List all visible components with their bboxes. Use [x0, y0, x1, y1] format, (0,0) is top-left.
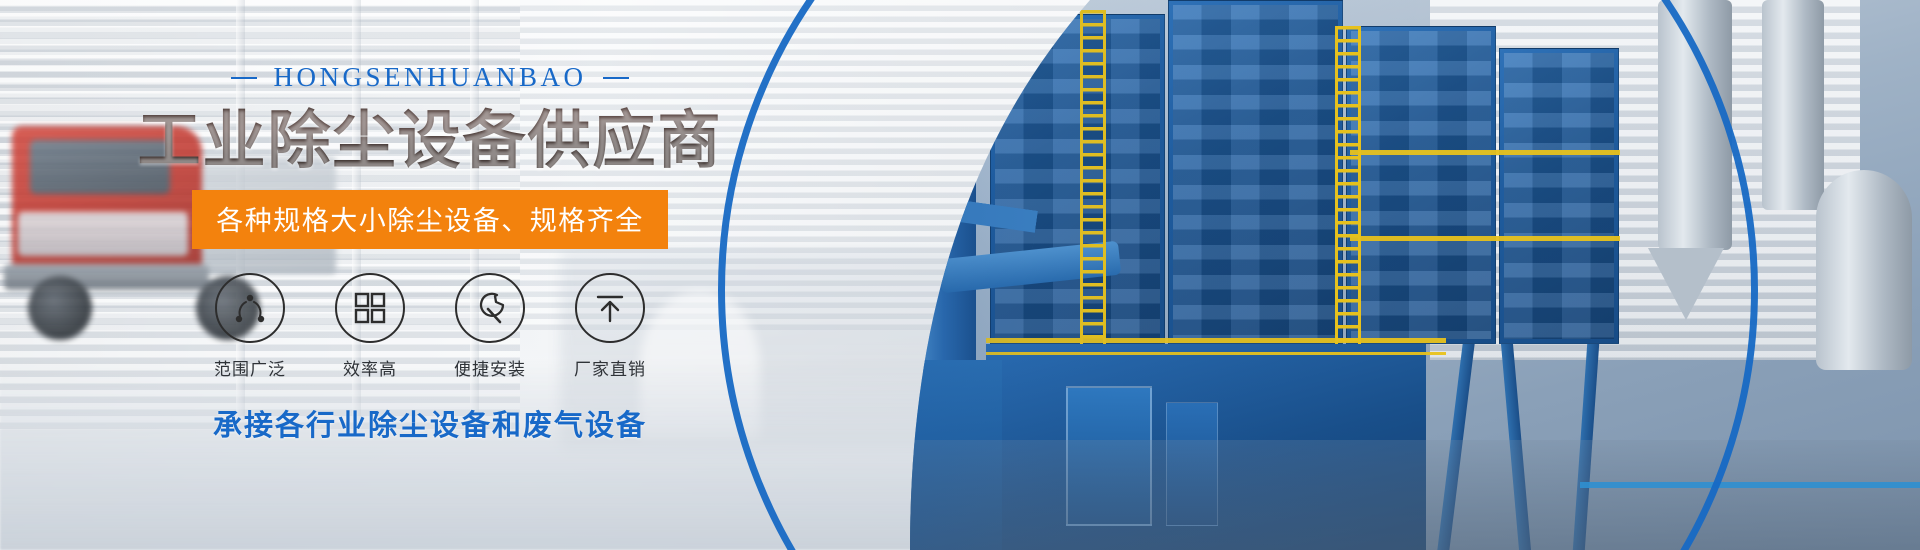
subtitle-orange-bar: 各种规格大小除尘设备、规格齐全 [192, 190, 668, 249]
banner-content: HONGSENHUANBAO 工业除尘设备供应商 各种规格大小除尘设备、规格齐全… [0, 0, 860, 550]
feature-item-high-efficiency[interactable]: 效率高 [329, 273, 411, 380]
feature-label: 便捷安装 [454, 355, 526, 380]
page-title: 工业除尘设备供应商 [138, 107, 723, 175]
feature-item-factory-direct[interactable]: 厂家直销 [569, 273, 651, 380]
feature-label: 范围广泛 [214, 355, 286, 380]
hero-banner: HONGSENHUANBAO 工业除尘设备供应商 各种规格大小除尘设备、规格齐全… [0, 0, 1920, 550]
grid-squares-icon [335, 273, 405, 343]
feature-label: 厂家直销 [574, 355, 646, 380]
upload-arrow-icon [575, 273, 645, 343]
dash-left-icon [231, 77, 257, 79]
feature-list: 范围广泛 效率高 [209, 273, 651, 380]
share-network-icon [215, 273, 285, 343]
dash-right-icon [603, 77, 629, 79]
feature-item-wide-range[interactable]: 范围广泛 [209, 273, 291, 380]
tagline: 承接各行业除尘设备和废气设备 [213, 402, 647, 444]
eyebrow-brand-latin: HONGSENHUANBAO [231, 62, 628, 93]
feature-label: 效率高 [343, 355, 397, 380]
eyebrow-text: HONGSENHUANBAO [273, 62, 586, 93]
wrench-tool-icon [455, 273, 525, 343]
feature-item-easy-install[interactable]: 便捷安装 [449, 273, 531, 380]
